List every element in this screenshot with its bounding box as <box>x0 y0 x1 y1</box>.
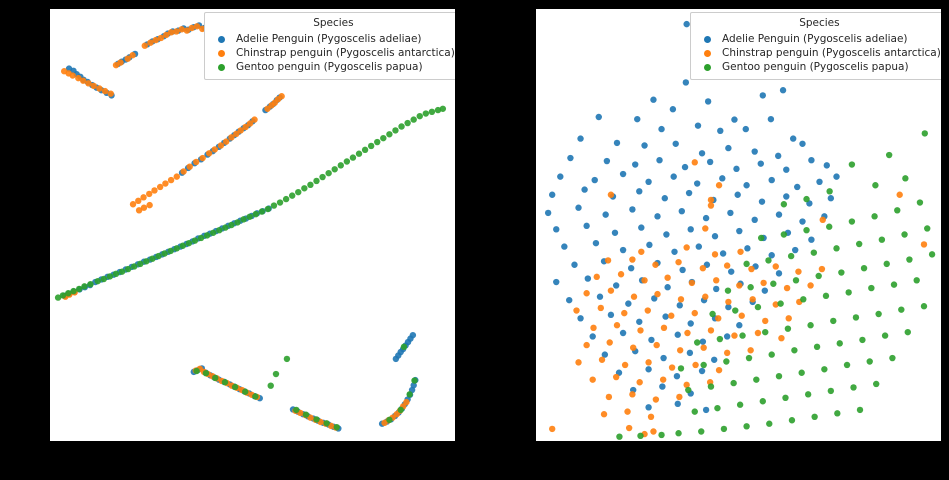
data-point <box>861 265 867 271</box>
data-point <box>873 381 879 387</box>
data-point <box>553 279 559 285</box>
data-point <box>575 205 581 211</box>
data-point <box>380 135 386 141</box>
data-point <box>161 250 167 256</box>
data-point <box>769 351 775 357</box>
data-point <box>830 318 836 324</box>
data-point <box>403 399 409 405</box>
data-point <box>319 174 325 180</box>
data-point <box>882 332 888 338</box>
data-point <box>747 284 753 290</box>
data-point <box>119 268 125 274</box>
data-point <box>636 379 642 385</box>
data-point <box>594 274 600 280</box>
data-point <box>660 355 666 361</box>
data-point <box>743 126 749 132</box>
data-point <box>146 191 152 197</box>
data-point <box>776 373 782 379</box>
data-point <box>590 325 596 331</box>
data-point <box>733 166 739 172</box>
data-point <box>259 208 265 214</box>
data-point <box>879 236 885 242</box>
legend-label-gentoo: Gentoo penguin (Pygoscelis papua) <box>722 60 909 74</box>
data-point <box>675 259 681 265</box>
data-point <box>777 300 783 306</box>
data-point <box>406 391 412 397</box>
data-point <box>146 202 152 208</box>
data-point <box>723 358 729 364</box>
scatter-plot-right[interactable]: Species Adelie Penguin (Pygoscelis adeli… <box>536 9 941 441</box>
data-point <box>137 261 143 267</box>
data-point <box>545 210 551 216</box>
data-point <box>689 280 695 286</box>
data-point <box>906 256 912 262</box>
data-point <box>703 215 709 221</box>
data-point <box>101 276 107 282</box>
data-point <box>295 189 301 195</box>
data-point <box>773 263 779 269</box>
data-point <box>872 182 878 188</box>
series-gentoo <box>55 106 446 431</box>
data-point <box>670 106 676 112</box>
data-point <box>277 199 283 205</box>
data-point <box>833 173 839 179</box>
data-point <box>720 250 726 256</box>
data-point <box>762 318 768 324</box>
data-point <box>732 307 738 313</box>
data-point <box>811 249 817 255</box>
data-point <box>228 134 234 140</box>
data-point <box>599 357 605 363</box>
data-point <box>113 271 119 277</box>
data-point <box>350 154 356 160</box>
data-point <box>656 157 662 163</box>
data-point <box>894 207 900 213</box>
data-point <box>102 88 108 94</box>
data-point <box>401 344 407 350</box>
data-point <box>598 305 604 311</box>
data-point <box>70 288 76 294</box>
data-point <box>410 116 416 122</box>
data-point <box>799 218 805 224</box>
data-point <box>232 384 238 390</box>
data-point <box>744 245 750 251</box>
data-point <box>803 227 809 233</box>
data-point <box>174 245 180 251</box>
legend-label-chinstrap: Chinstrap penguin (Pygoscelis antarctica… <box>722 46 941 60</box>
data-point <box>746 355 752 361</box>
data-point <box>834 410 840 416</box>
data-point <box>850 384 856 390</box>
data-point <box>853 314 859 320</box>
data-point <box>698 428 704 434</box>
data-point <box>759 198 765 204</box>
data-point <box>620 330 626 336</box>
series-chinstrap <box>549 159 927 437</box>
data-point <box>898 306 904 312</box>
data-point <box>731 332 737 338</box>
data-point <box>901 231 907 237</box>
data-point <box>921 241 927 247</box>
data-point <box>708 327 714 333</box>
data-point <box>924 225 930 231</box>
data-point <box>724 333 730 339</box>
data-point <box>626 425 632 431</box>
data-point <box>374 139 380 145</box>
data-point <box>604 158 610 164</box>
data-point <box>760 398 766 404</box>
legend-marker-gentoo <box>704 64 711 71</box>
data-point <box>788 253 794 259</box>
legend-title: Species <box>212 17 455 30</box>
data-point <box>762 287 768 293</box>
data-point <box>632 161 638 167</box>
data-point <box>833 245 839 251</box>
data-point <box>125 266 131 272</box>
data-point <box>368 143 374 149</box>
data-point <box>929 251 935 257</box>
data-point <box>652 262 658 268</box>
data-point <box>618 271 624 277</box>
data-point <box>228 222 234 228</box>
data-point <box>645 404 651 410</box>
data-point <box>785 325 791 331</box>
data-point <box>108 90 114 96</box>
data-point <box>614 322 620 328</box>
data-point <box>692 159 698 165</box>
data-point <box>884 261 890 267</box>
data-point <box>762 329 768 335</box>
data-point <box>792 247 798 253</box>
data-point <box>162 180 168 186</box>
data-point <box>203 370 209 376</box>
legend-item-adelie[interactable]: Adelie Penguin (Pygoscelis adeliae) <box>698 32 941 46</box>
data-point <box>601 411 607 417</box>
data-point <box>218 142 224 148</box>
data-point <box>868 285 874 291</box>
data-point <box>725 287 731 293</box>
data-point <box>679 267 685 273</box>
data-point <box>650 97 656 103</box>
data-point <box>664 284 670 290</box>
data-point <box>313 178 319 184</box>
data-point <box>284 356 290 362</box>
data-point <box>91 83 97 89</box>
data-point <box>889 355 895 361</box>
data-point <box>307 182 313 188</box>
data-point <box>845 289 851 295</box>
data-point <box>334 424 340 430</box>
data-point <box>859 337 865 343</box>
data-point <box>712 233 718 239</box>
data-point <box>423 110 429 116</box>
data-point <box>135 198 141 204</box>
data-point <box>629 206 635 212</box>
data-point <box>736 228 742 234</box>
data-point <box>736 282 742 288</box>
data-point <box>700 265 706 271</box>
data-point <box>140 194 146 200</box>
data-point <box>557 173 563 179</box>
data-point <box>663 231 669 237</box>
data-point <box>392 127 398 133</box>
data-point <box>678 296 684 302</box>
data-point <box>671 173 677 179</box>
data-point <box>143 258 149 264</box>
data-point <box>737 249 743 255</box>
data-point <box>362 147 368 153</box>
data-point <box>608 287 614 293</box>
data-point <box>417 113 423 119</box>
data-point <box>708 202 714 208</box>
data-point <box>891 281 897 287</box>
scatter-plot-left[interactable]: Species Adelie Penguin (Pygoscelis adeli… <box>50 9 455 441</box>
data-point <box>922 130 928 136</box>
data-point <box>743 182 749 188</box>
data-point <box>688 320 694 326</box>
data-point <box>129 52 135 58</box>
data-point <box>730 380 736 386</box>
data-point <box>717 336 723 342</box>
data-point <box>386 131 392 137</box>
data-point <box>662 313 668 319</box>
data-point <box>549 192 555 198</box>
data-point <box>728 268 734 274</box>
data-point <box>199 155 205 161</box>
data-point <box>677 347 683 353</box>
data-point <box>198 235 204 241</box>
legend-label-gentoo: Gentoo penguin (Pygoscelis papua) <box>236 60 423 74</box>
data-point <box>325 170 331 176</box>
data-point <box>222 379 228 385</box>
data-point <box>641 277 647 283</box>
data-point <box>700 362 706 368</box>
data-point <box>819 266 825 272</box>
data-point <box>687 350 693 356</box>
data-point <box>700 338 706 344</box>
data-point <box>628 265 634 271</box>
data-point <box>636 188 642 194</box>
legend-item-chinstrap[interactable]: Chinstrap penguin (Pygoscelis antarctica… <box>698 46 941 60</box>
data-point <box>714 405 720 411</box>
data-point <box>821 366 827 372</box>
legend-item-adelie[interactable]: Adelie Penguin (Pygoscelis adeliae) <box>212 32 455 46</box>
data-point <box>624 408 630 414</box>
data-point <box>223 138 229 144</box>
data-point <box>875 311 881 317</box>
data-point <box>645 307 651 313</box>
data-point <box>630 344 636 350</box>
data-point <box>606 394 612 400</box>
data-point <box>790 135 796 141</box>
legend-item-chinstrap[interactable]: Chinstrap penguin (Pygoscelis antarctica… <box>212 46 455 60</box>
data-point <box>699 150 705 156</box>
data-point <box>692 310 698 316</box>
data-point <box>81 283 87 289</box>
data-point <box>694 180 700 186</box>
data-point <box>645 179 651 185</box>
data-point <box>571 262 577 268</box>
data-point <box>240 216 246 222</box>
data-point <box>180 168 186 174</box>
data-point <box>602 211 608 217</box>
data-point <box>265 206 271 212</box>
data-point <box>136 207 142 213</box>
data-point <box>242 389 248 395</box>
data-point <box>303 411 309 417</box>
data-point <box>283 196 289 202</box>
data-point <box>149 256 155 262</box>
data-point <box>814 344 820 350</box>
data-point <box>674 373 680 379</box>
legend-label-adelie: Adelie Penguin (Pygoscelis adeliae) <box>722 32 908 46</box>
data-point <box>142 43 148 49</box>
data-point <box>650 428 656 434</box>
data-point <box>755 304 761 310</box>
data-point <box>271 202 277 208</box>
data-point <box>692 408 698 414</box>
data-point <box>174 173 180 179</box>
data-point <box>695 122 701 128</box>
data-point <box>613 374 619 380</box>
data-point <box>816 179 822 185</box>
data-point <box>807 322 813 328</box>
data-point <box>828 388 834 394</box>
data-point <box>592 177 598 183</box>
data-point <box>429 109 435 115</box>
data-point <box>573 307 579 313</box>
data-point <box>648 414 654 420</box>
data-point <box>739 332 745 338</box>
data-point <box>781 201 787 207</box>
data-point <box>660 376 666 382</box>
legend-item-gentoo[interactable]: Gentoo penguin (Pygoscelis papua) <box>698 60 941 74</box>
data-point <box>896 192 902 198</box>
data-point <box>808 157 814 163</box>
data-point <box>752 148 758 154</box>
legend-left: Species Adelie Penguin (Pygoscelis adeli… <box>204 12 455 80</box>
data-point <box>747 347 753 353</box>
data-point <box>679 208 685 214</box>
data-point <box>212 146 218 152</box>
data-point <box>808 236 814 242</box>
data-point <box>708 197 714 203</box>
data-point <box>107 273 113 279</box>
data-point <box>781 231 787 237</box>
data-point <box>795 268 801 274</box>
data-point <box>621 310 627 316</box>
data-point <box>613 282 619 288</box>
data-point <box>683 244 689 250</box>
data-point <box>605 257 611 263</box>
data-point <box>784 285 790 291</box>
data-point <box>705 98 711 104</box>
data-point <box>820 217 826 223</box>
data-point <box>709 311 715 317</box>
data-point <box>222 224 228 230</box>
data-point <box>252 393 258 399</box>
data-point <box>765 257 771 263</box>
data-point <box>807 282 813 288</box>
legend-label-chinstrap: Chinstrap penguin (Pygoscelis antarctica… <box>236 46 455 60</box>
data-point <box>776 211 782 217</box>
data-point <box>253 211 259 217</box>
data-point <box>783 193 789 199</box>
data-point <box>886 152 892 158</box>
data-point <box>727 210 733 216</box>
data-point <box>661 325 667 331</box>
data-point <box>743 423 749 429</box>
data-point <box>921 303 927 309</box>
data-point <box>871 213 877 219</box>
data-point <box>758 235 764 241</box>
data-point <box>131 263 137 269</box>
data-point <box>844 362 850 368</box>
data-point <box>823 293 829 299</box>
legend-marker-gentoo <box>218 64 225 71</box>
data-point <box>684 330 690 336</box>
data-point <box>386 417 392 423</box>
data-point <box>264 106 270 112</box>
data-point <box>780 87 786 93</box>
data-point <box>583 342 589 348</box>
data-point <box>210 230 216 236</box>
data-point <box>216 227 222 233</box>
data-point <box>597 294 603 300</box>
data-point <box>637 327 643 333</box>
data-point <box>596 114 602 120</box>
data-point <box>653 342 659 348</box>
data-point <box>685 387 691 393</box>
data-point <box>699 368 705 374</box>
data-point <box>629 256 635 262</box>
data-point <box>752 217 758 223</box>
data-point <box>157 184 163 190</box>
data-point <box>686 190 692 196</box>
data-point <box>717 128 723 134</box>
data-point <box>799 141 805 147</box>
data-point <box>715 315 721 321</box>
data-point <box>683 79 689 85</box>
data-point <box>155 253 161 259</box>
data-point <box>724 262 730 268</box>
data-point <box>857 407 863 413</box>
data-point <box>332 166 338 172</box>
data-point <box>768 116 774 122</box>
data-point <box>671 249 677 255</box>
data-point <box>561 243 567 249</box>
data-point <box>703 407 709 413</box>
data-point <box>828 195 834 201</box>
data-point <box>268 383 274 389</box>
data-point <box>614 140 620 146</box>
data-point <box>193 368 199 374</box>
data-point <box>117 59 123 65</box>
data-point <box>608 312 614 318</box>
data-point <box>323 420 329 426</box>
data-point <box>905 329 911 335</box>
data-point <box>338 162 344 168</box>
legend-item-gentoo[interactable]: Gentoo penguin (Pygoscelis papua) <box>212 60 455 74</box>
data-point <box>707 159 713 165</box>
data-point <box>581 186 587 192</box>
data-point <box>760 92 766 98</box>
legend-right: Species Adelie Penguin (Pygoscelis adeli… <box>690 12 941 80</box>
data-point <box>675 332 681 338</box>
data-point <box>803 196 809 202</box>
data-point <box>749 296 755 302</box>
data-point <box>800 296 806 302</box>
